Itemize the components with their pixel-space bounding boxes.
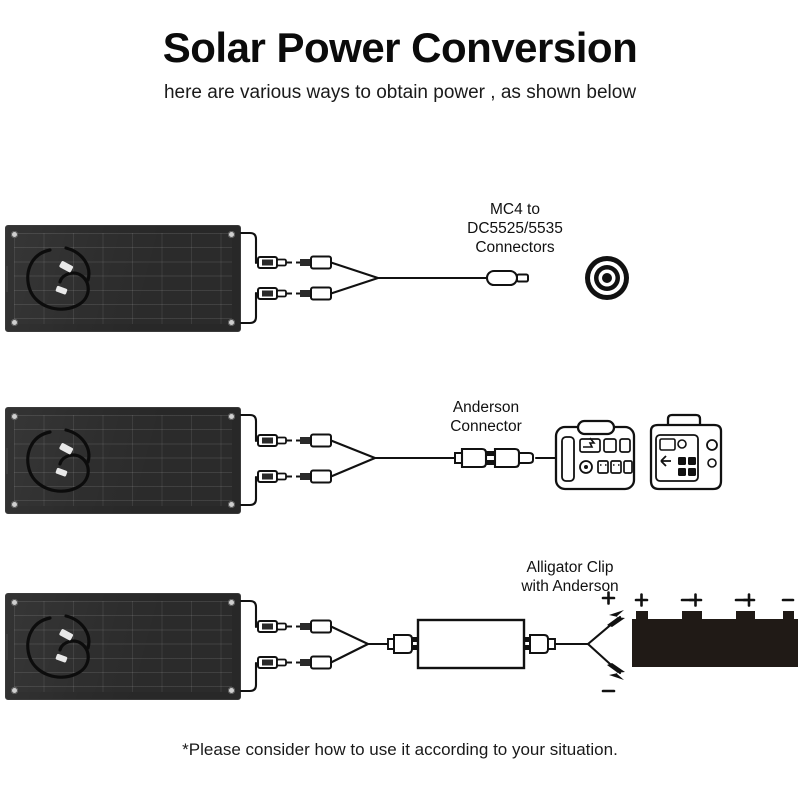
mc4-connector-cable-negative [296,288,331,300]
y-splitter [331,441,375,477]
mc4-connector-panel-positive [258,435,292,446]
page-title: Solar Power Conversion [0,26,800,70]
row3-wiring [0,555,800,705]
diagram-row-alligator-clip: Alligator Clip with Anderson PWM or MPPT… [0,555,800,705]
battery-polarity-marks [636,595,793,606]
mc4-connector-panel-positive [258,621,292,632]
portable-power-station-side [651,415,721,489]
mc4-connector-panel-negative [258,657,292,668]
portable-power-station-front [556,421,634,489]
footer-note: *Please consider how to use it according… [0,740,800,760]
clip-polarity-marks [603,593,614,692]
header: Solar Power Conversion here are various … [0,26,800,105]
pwm-mppt-controller-box [418,620,524,668]
mc4-connector-panel-negative [258,471,292,482]
row1-wiring [0,195,800,355]
panel-lead-negative [241,477,256,505]
panel-lead-positive [241,233,256,263]
mc4-connector-cable-positive [296,435,331,447]
dc-input-port [585,256,629,300]
mc4-connector-cable-positive [296,257,331,269]
panel-lead-positive [241,415,256,441]
page-subtitle: here are various ways to obtain power , … [0,82,800,105]
row2-wiring [0,385,800,535]
anderson-connector-controller-out [524,635,555,653]
panel-lead-negative [241,293,256,323]
dc-barrel-plug [487,271,528,285]
mc4-connector-cable-negative [296,471,331,483]
battery-lithium [740,611,798,667]
mc4-connector-cable-negative [296,657,331,669]
y-splitter [331,263,378,294]
alligator-clip-positive [607,610,625,627]
y-splitter [331,627,368,663]
solar-power-conversion-infographic: Solar Power Conversion here are various … [0,0,800,800]
anderson-connector-pair [455,449,533,467]
alligator-clip-negative [607,663,625,680]
anderson-connector-controller-in [388,635,418,653]
panel-lead-negative [241,663,256,691]
mc4-connector-cable-positive [296,621,331,633]
panel-lead-positive [241,601,256,627]
mc4-connector-panel-negative [258,288,292,299]
diagram-row-anderson: Anderson Connector [0,385,800,535]
diagram-row-mc4-to-dc: MC4 to DC5525/5535 Connectors [0,195,800,355]
mc4-connector-panel-positive [258,257,292,268]
